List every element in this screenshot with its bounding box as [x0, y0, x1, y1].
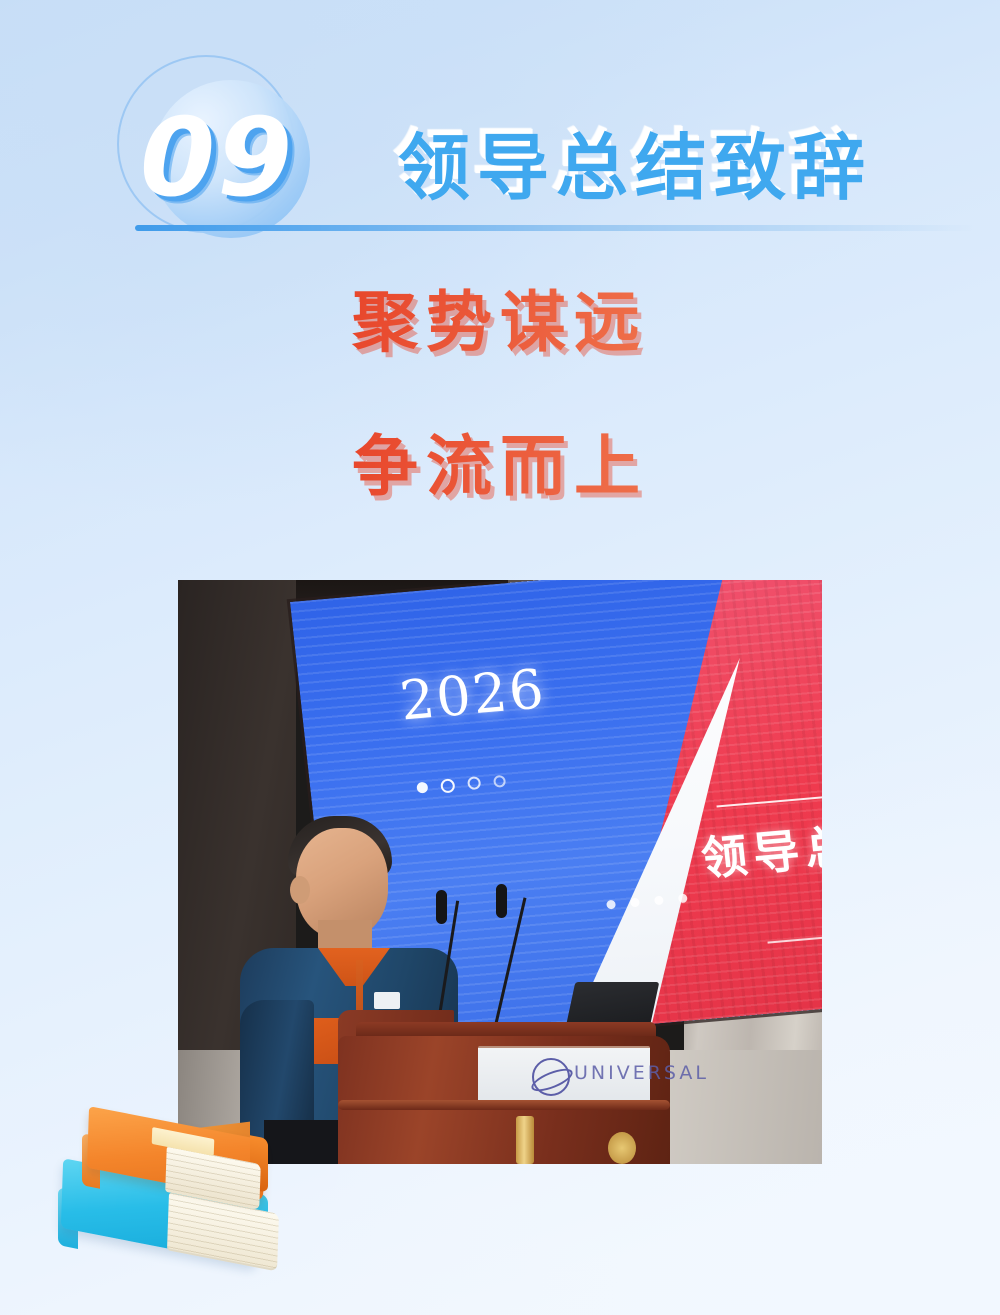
poster-page: 09 领导总结致辞 聚势谋远 争流而上 2026 05 领导总结致辞: [0, 0, 1000, 1315]
microphone-head-2: [496, 884, 507, 918]
speaker-ear: [290, 876, 310, 904]
microphone-head-1: [436, 890, 447, 924]
books-illustration: [60, 1115, 300, 1300]
screen-year-text: 2026: [397, 662, 548, 730]
podium-emblem: [608, 1132, 636, 1164]
slogan-block: 聚势谋远 争流而上: [0, 285, 1000, 503]
slogan-line-2: 争流而上: [0, 429, 1000, 503]
podium-rail: [338, 1100, 670, 1110]
header-section: 09 领导总结致辞: [0, 0, 1000, 270]
header-underline: [135, 225, 975, 231]
podium-column: [516, 1116, 534, 1164]
event-photo: 2026 05 领导总结致辞 UNIVERSAL: [178, 580, 822, 1164]
page-title: 领导总结致辞: [398, 128, 872, 208]
section-number: 09: [140, 105, 294, 213]
podium-brand-text: UNIVERSAL: [574, 1062, 709, 1084]
speaker-name-badge: [374, 992, 400, 1009]
universal-logo-icon: [532, 1058, 570, 1096]
slogan-line-1: 聚势谋远: [0, 285, 1000, 359]
